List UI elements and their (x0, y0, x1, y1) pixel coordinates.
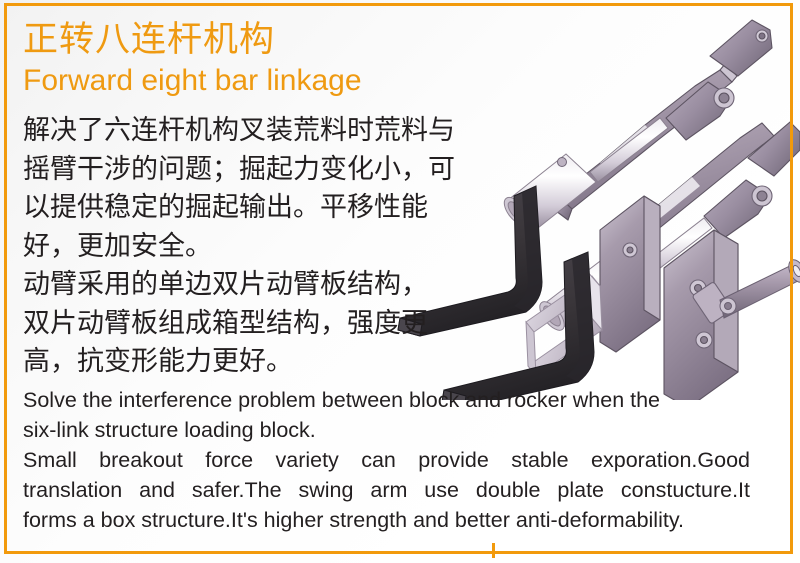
english-paragraph-1-line-1: Solve the interference problem between b… (23, 385, 750, 415)
chinese-paragraph-2: 动臂采用的单边双片动臂板结构， 双片动臂板组成箱型结构，强度更 高，抗变形能力更… (23, 265, 438, 381)
chinese-paragraph-2-line-3: 高，抗变形能力更好。 (23, 342, 438, 381)
english-paragraph-2-line-1: Small breakout force variety can provide… (23, 445, 750, 475)
english-paragraph-2: Small breakout force variety can provide… (23, 445, 750, 535)
english-paragraph-1: Solve the interference problem between b… (23, 385, 750, 445)
chinese-paragraph-2-line-2: 双片动臂板组成箱型结构，强度更 (23, 304, 438, 343)
english-paragraph-2-line-2: translation and safer.The swing arm use … (23, 475, 750, 505)
chinese-paragraph-1-line-4: 好，更加安全。 (23, 227, 438, 266)
chinese-paragraph-1-line-2: 摇臂干涉的问题；掘起力变化小，可 (23, 150, 438, 189)
chinese-paragraph-1: 解决了六连杆机构叉装荒料时荒料与 摇臂干涉的问题；掘起力变化小，可 以提供稳定的… (23, 111, 438, 265)
english-paragraph-2-line-3: forms a box structure.It's higher streng… (23, 505, 750, 535)
chinese-paragraph-1-line-3: 以提供稳定的掘起输出。平移性能 (23, 188, 438, 227)
chinese-paragraph-1-line-1: 解决了六连杆机构叉装荒料时荒料与 (23, 111, 438, 150)
content-column: 正转八连杆机构 Forward eight bar linkage 解决了六连杆… (23, 18, 775, 535)
chinese-paragraph-2-line-1: 动臂采用的单边双片动臂板结构， (23, 265, 438, 304)
border-tick-mark (492, 543, 495, 558)
page-title-chinese: 正转八连杆机构 (23, 18, 775, 61)
page-title-english: Forward eight bar linkage (23, 63, 775, 99)
slide-canvas: 正转八连杆机构 Forward eight bar linkage 解决了六连杆… (0, 0, 800, 563)
english-paragraph-1-line-2: six-link structure loading block. (23, 415, 750, 445)
